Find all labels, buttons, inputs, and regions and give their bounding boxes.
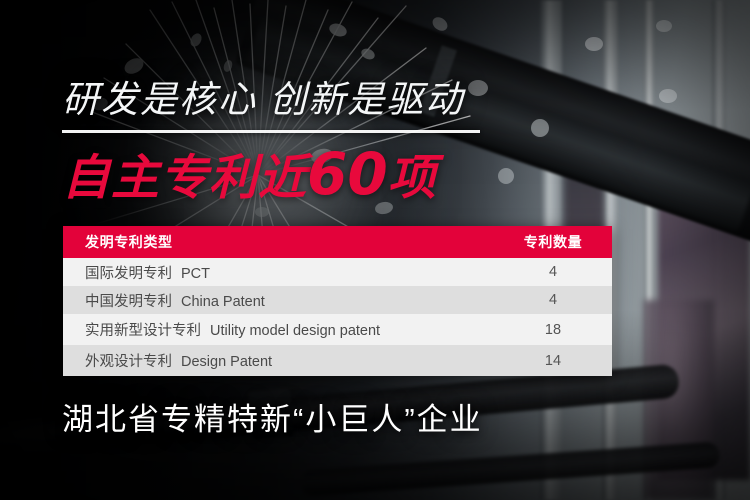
patent-type-cn: 中国发明专利 bbox=[85, 294, 172, 310]
cell-patent-type: 实用新型设计专利Utility model design patent bbox=[63, 319, 494, 340]
subheadline-suffix: 项 bbox=[388, 152, 437, 205]
headline-text: 研发是核心 创新是驱动 bbox=[62, 78, 464, 122]
patent-achievement-banner: 研发是核心 创新是驱动 自主专利近60项 发明专利类型 专利数量 国际发明专利P… bbox=[0, 0, 750, 500]
table-row: 外观设计专利Design Patent 14 bbox=[63, 345, 612, 376]
footer-text: 湖北省专精特新“小巨人”企业 bbox=[62, 400, 483, 440]
patent-type-en: Utility model design patent bbox=[201, 323, 380, 339]
table-row: 中国发明专利China Patent 4 bbox=[63, 286, 612, 314]
table-row: 实用新型设计专利Utility model design patent 18 bbox=[63, 314, 612, 345]
cell-patent-count: 18 bbox=[494, 322, 612, 338]
column-header-type: 发明专利类型 bbox=[63, 232, 494, 252]
cell-patent-type: 外观设计专利Design Patent bbox=[63, 350, 494, 371]
subheadline-text: 自主专利近60项 bbox=[62, 145, 437, 208]
cell-patent-count: 4 bbox=[494, 292, 612, 308]
headline-divider bbox=[62, 130, 480, 133]
cell-patent-count: 14 bbox=[494, 353, 612, 369]
patent-type-cn: 外观设计专利 bbox=[85, 354, 172, 370]
patent-count-number: 60 bbox=[307, 140, 388, 208]
cell-patent-type: 国际发明专利PCT bbox=[63, 262, 494, 283]
table-header-row: 发明专利类型 专利数量 bbox=[63, 226, 612, 258]
cell-patent-count: 4 bbox=[494, 264, 612, 280]
banner-content: 研发是核心 创新是驱动 自主专利近60项 发明专利类型 专利数量 国际发明专利P… bbox=[0, 0, 750, 500]
patent-type-cn: 国际发明专利 bbox=[85, 266, 172, 282]
column-header-count: 专利数量 bbox=[494, 232, 612, 252]
cell-patent-type: 中国发明专利China Patent bbox=[63, 290, 494, 311]
subheadline-prefix: 自主专利近 bbox=[62, 152, 307, 205]
patent-type-en: PCT bbox=[172, 266, 210, 282]
patent-type-en: China Patent bbox=[172, 294, 265, 310]
patent-table: 发明专利类型 专利数量 国际发明专利PCT 4 中国发明专利China Pate… bbox=[63, 226, 612, 376]
table-row: 国际发明专利PCT 4 bbox=[63, 258, 612, 286]
patent-type-en: Design Patent bbox=[172, 354, 272, 370]
patent-type-cn: 实用新型设计专利 bbox=[85, 323, 201, 339]
